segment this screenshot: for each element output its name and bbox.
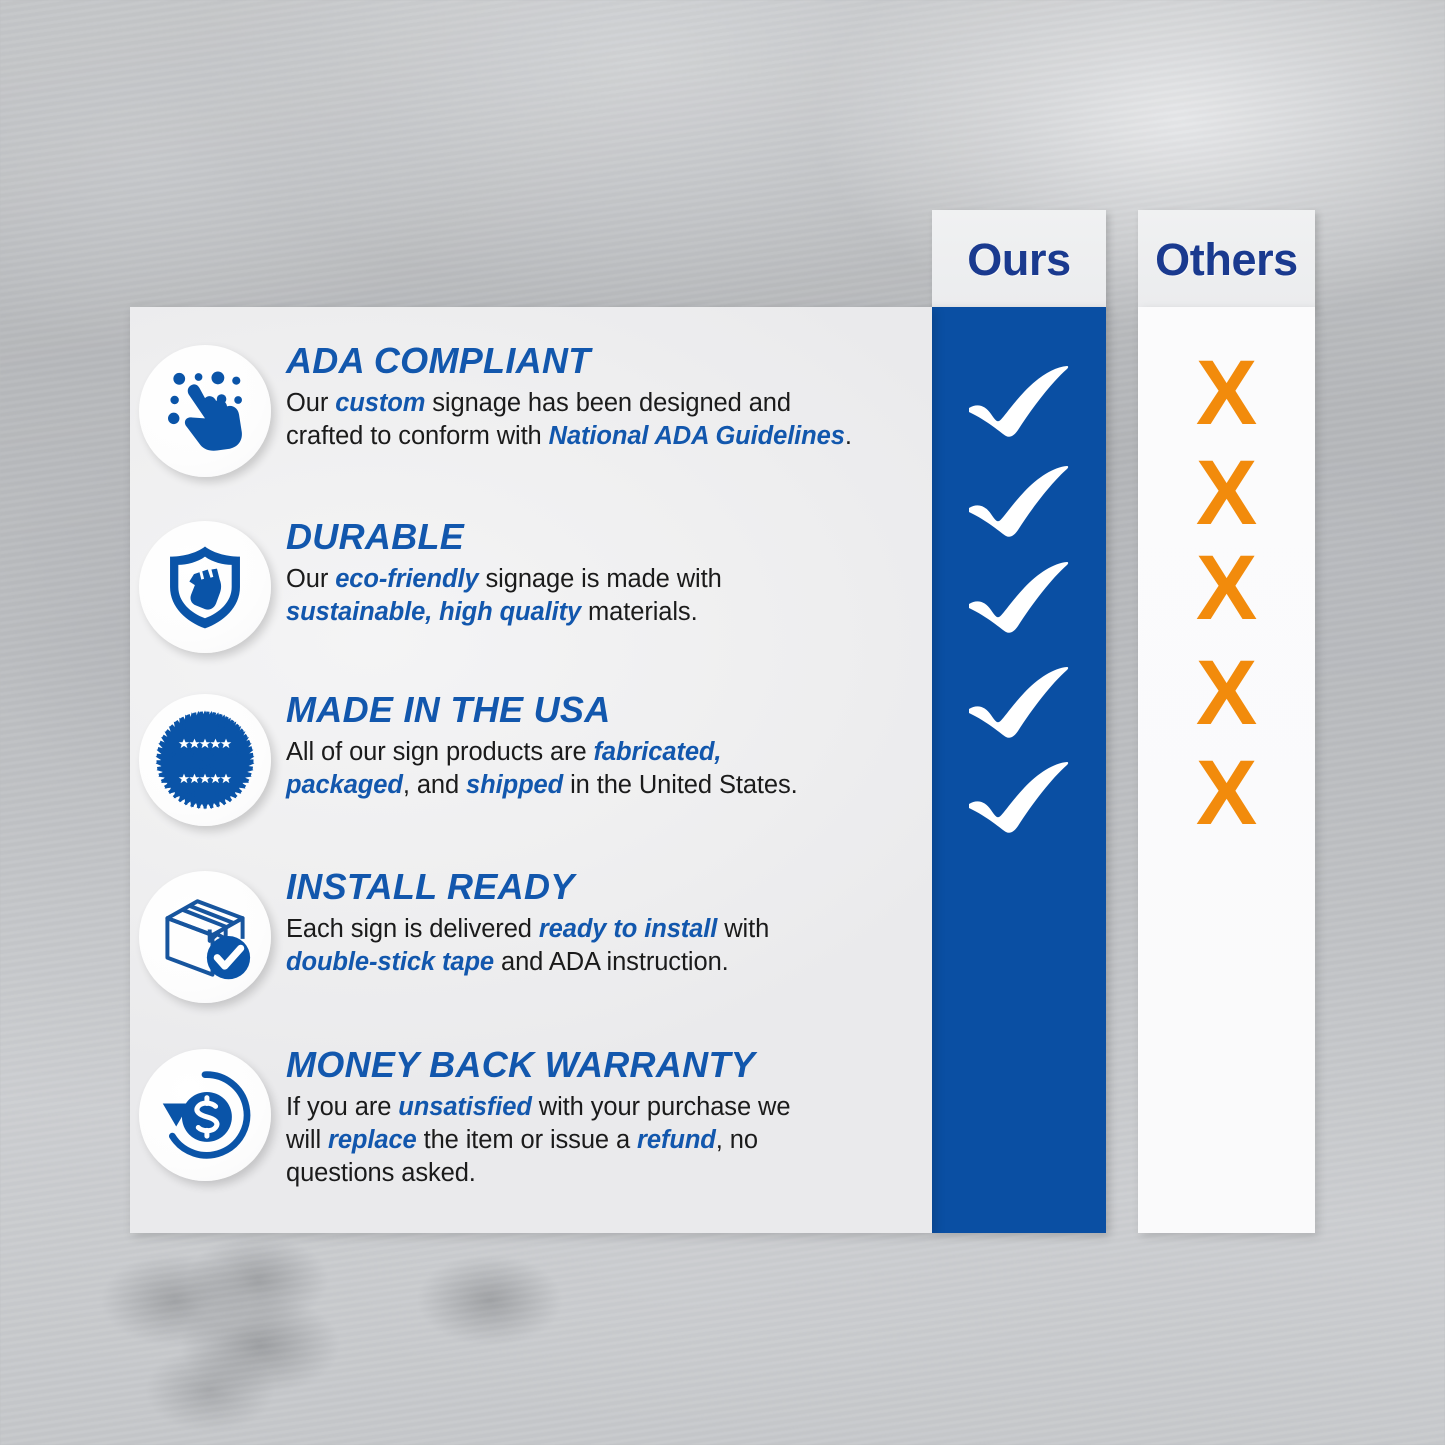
feature-body: All of our sign products are fabricated,… — [286, 736, 932, 802]
feature-body: Each sign is delivered ready to install … — [286, 913, 932, 979]
check-icon — [932, 560, 1106, 636]
feature-row-install-ready: INSTALL READY Each sign is delivered rea… — [130, 869, 932, 1003]
x-icon: X — [1138, 347, 1315, 439]
feature-title: MONEY BACK WARRANTY — [286, 1047, 932, 1084]
feature-text: MADE IN THE USA All of our sign products… — [280, 692, 932, 802]
feature-icon-wrap: MADE IN THE USA — [130, 692, 280, 826]
money-back-refund-icon — [139, 1049, 271, 1181]
column-header-others: Others — [1138, 210, 1315, 309]
check-icon — [932, 760, 1106, 836]
seal-line2: USA — [185, 755, 225, 776]
column-header-ours-label: Ours — [967, 234, 1070, 286]
feature-title: INSTALL READY — [286, 869, 932, 906]
x-icon: X — [1138, 542, 1315, 634]
feature-row-money-back-warranty: MONEY BACK WARRANTY If you are unsatisfi… — [130, 1047, 932, 1190]
column-header-others-label: Others — [1155, 234, 1298, 286]
feature-icon-wrap — [130, 519, 280, 653]
feature-row-durable: DURABLE Our eco-friendly signage is made… — [130, 519, 932, 653]
x-icon: X — [1138, 447, 1315, 539]
shield-fist-icon — [139, 521, 271, 653]
feature-title: MADE IN THE USA — [286, 692, 932, 729]
check-icon — [932, 364, 1106, 440]
braille-touch-icon — [139, 345, 271, 477]
feature-title: DURABLE — [286, 519, 932, 556]
feature-title: ADA COMPLIANT — [286, 343, 932, 380]
feature-body: If you are unsatisfied with your purchas… — [286, 1091, 932, 1190]
x-icon: X — [1138, 747, 1315, 839]
check-icon — [932, 665, 1106, 741]
feature-icon-wrap — [130, 869, 280, 1003]
feature-row-made-in-usa: MADE IN THE USA MADE IN THE USA All of o… — [130, 692, 932, 826]
feature-icon-wrap — [130, 1047, 280, 1181]
column-header-ours: Ours — [932, 210, 1106, 309]
feature-body: Our eco-friendly signage is made withsus… — [286, 563, 932, 629]
x-icon: X — [1138, 647, 1315, 739]
feature-text: INSTALL READY Each sign is delivered rea… — [280, 869, 932, 979]
comparison-card: ADA COMPLIANT Our custom signage has bee… — [130, 307, 932, 1233]
feature-icon-wrap — [130, 343, 280, 477]
feature-row-ada-compliant: ADA COMPLIANT Our custom signage has bee… — [130, 343, 932, 477]
package-check-icon — [139, 871, 271, 1003]
made-in-usa-seal-icon: MADE IN THE USA — [139, 694, 271, 826]
feature-text: ADA COMPLIANT Our custom signage has bee… — [280, 343, 932, 453]
feature-text: MONEY BACK WARRANTY If you are unsatisfi… — [280, 1047, 932, 1190]
check-icon — [932, 464, 1106, 540]
feature-body: Our custom signage has been designed and… — [286, 387, 932, 453]
feature-text: DURABLE Our eco-friendly signage is made… — [280, 519, 932, 629]
